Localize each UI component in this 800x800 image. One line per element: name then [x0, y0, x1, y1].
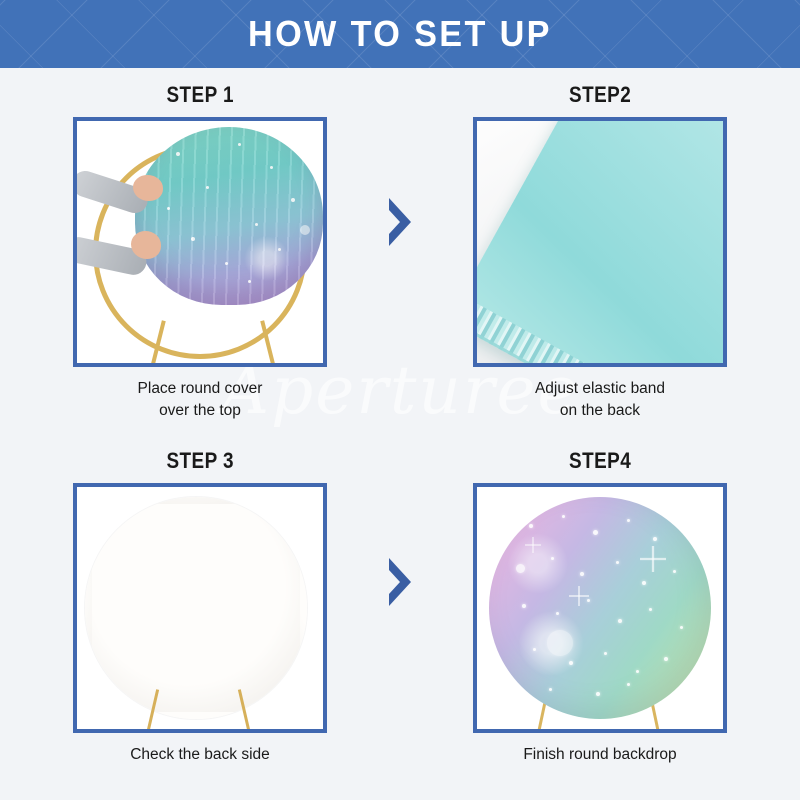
chevron-right-icon-top	[383, 196, 417, 248]
step-card-3: STEP 3 Check the back side	[0, 434, 400, 800]
finished-sparkles	[489, 497, 711, 719]
page-title: HOW TO SET UP	[248, 13, 552, 55]
step-card-2: STEP2 Adjust elastic band on the back	[400, 68, 800, 434]
step-4-illustration	[477, 487, 723, 729]
step-3-photo-frame	[73, 483, 327, 733]
star-sparkle-3	[525, 537, 541, 553]
step-3-title: STEP 3	[166, 448, 233, 474]
step-card-1: STEP 1	[0, 68, 400, 434]
star-sparkle-2	[569, 586, 589, 606]
gradient-cover-fabric	[135, 127, 323, 305]
step-1-title: STEP 1	[166, 82, 233, 108]
step-1-caption: Place round cover over the top	[138, 378, 263, 423]
chevron-right-icon-bottom	[383, 556, 417, 608]
step-2-illustration	[477, 121, 723, 363]
hoop-leg-left	[150, 320, 165, 367]
cover-sparkles	[135, 127, 323, 305]
hand-lower	[131, 231, 161, 259]
step-1-illustration	[77, 121, 323, 363]
step-4-photo-frame	[473, 483, 727, 733]
pastel-rim-ring	[83, 495, 309, 721]
step-2-photo-frame	[473, 117, 727, 367]
hand-upper	[133, 175, 163, 201]
step-card-4: STEP4	[400, 434, 800, 800]
step-4-caption: Finish round backdrop	[523, 744, 676, 766]
step-1-photo-frame	[73, 117, 327, 367]
star-sparkle-1	[640, 546, 666, 572]
step-3-caption: Check the back side	[130, 744, 270, 766]
hoop-leg-right	[260, 320, 275, 367]
step-2-caption: Adjust elastic band on the back	[535, 378, 665, 423]
step-4-title: STEP4	[569, 448, 631, 474]
steps-grid: STEP 1	[0, 68, 800, 800]
page-header: HOW TO SET UP	[0, 0, 800, 68]
finished-backdrop-circle	[489, 497, 711, 719]
step-3-illustration	[77, 487, 323, 729]
step-2-title: STEP2	[569, 82, 631, 108]
